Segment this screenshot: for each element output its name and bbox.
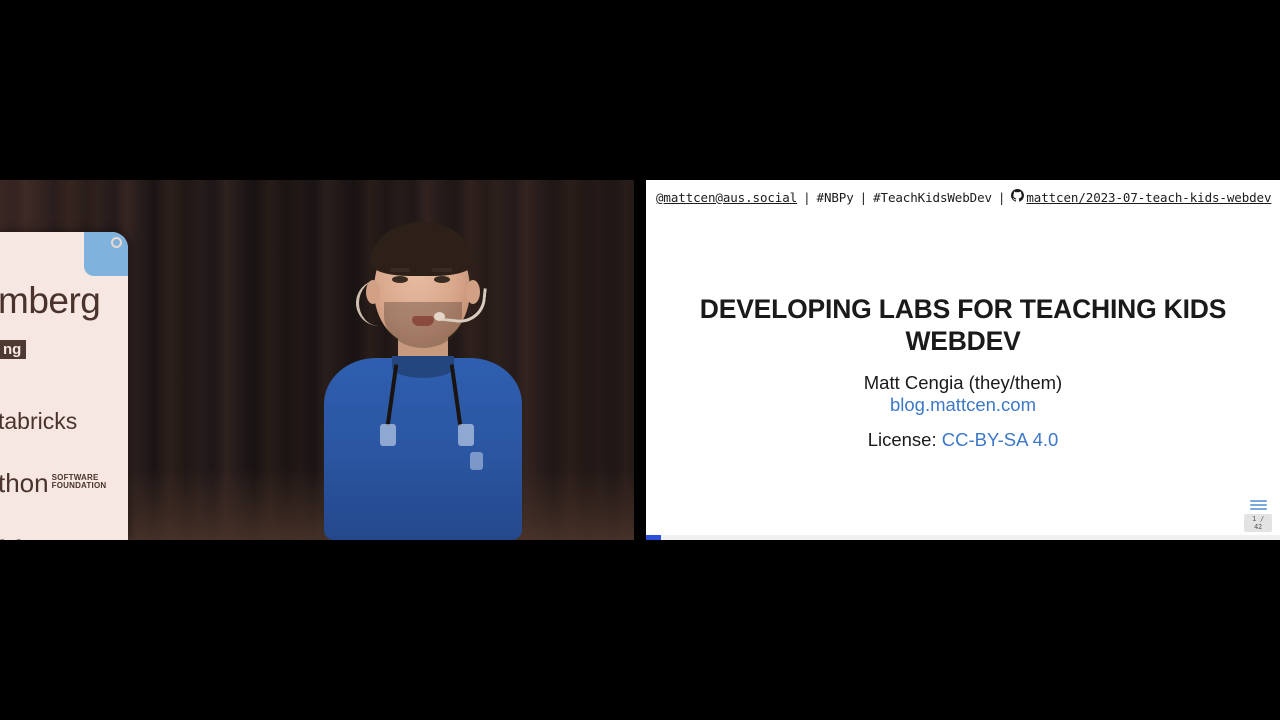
header-separator-3: | — [992, 190, 1011, 205]
headset-mic-boom — [438, 284, 487, 326]
menu-bar-2 — [1250, 504, 1267, 506]
github-repo-link[interactable]: mattcen/2023-07-teach-kids-webdev — [1026, 190, 1271, 205]
sponsor-logo-bloomberg: mberg — [0, 280, 100, 322]
speaker-figure — [318, 228, 528, 540]
slide-counter: 1 / 42 — [1244, 514, 1272, 532]
mastodon-handle-link[interactable]: @mattcen@aus.social — [656, 190, 797, 205]
sponsor-logo-psf: thonSOFTWAREFOUNDATION — [0, 468, 106, 499]
hamburger-menu-icon[interactable] — [1250, 500, 1267, 512]
slide-license-label: License: — [868, 429, 937, 450]
screen-root: mberg ng tabricks thonSOFTWAREFOUNDATION… — [0, 0, 1280, 720]
slide-license-link[interactable]: CC-BY-SA 4.0 — [942, 429, 1059, 450]
psf-sub-line-2: FOUNDATION — [52, 481, 107, 490]
github-icon — [1011, 189, 1024, 205]
hashtag-nbpy: #NBPy — [817, 190, 854, 205]
letterbox-top — [0, 0, 1280, 180]
speaker-mouth — [412, 316, 434, 326]
speaker-eye-right — [434, 276, 450, 283]
slide-title: DEVELOPING LABS FOR TEACHING KIDS WEBDEV — [646, 294, 1280, 358]
speaker-brow-right — [432, 268, 452, 272]
sponsor-logo-psf-main: thon — [0, 468, 49, 498]
speaker-hair — [370, 222, 474, 276]
speaker-shirt — [324, 358, 522, 540]
slide-content: DEVELOPING LABS FOR TEACHING KIDS WEBDEV… — [646, 214, 1280, 540]
header-separator-2: | — [854, 190, 873, 205]
speaker-shirt-print-left — [380, 424, 396, 446]
sponsor-logo-psf-sub: SOFTWAREFOUNDATION — [52, 474, 107, 490]
headset-mic-capsule — [434, 312, 445, 321]
slide-website-link[interactable]: blog.mattcen.com — [890, 394, 1036, 415]
speaker-eye-left — [392, 276, 408, 283]
slide-header-bar: @mattcen@aus.social | #NBPy | #TeachKids… — [646, 180, 1280, 214]
headset-band — [356, 280, 389, 326]
speaker-shirt-print-right — [458, 424, 474, 446]
menu-bar-1 — [1250, 500, 1267, 502]
presentation-slide-pane[interactable]: @mattcen@aus.social | #NBPy | #TeachKids… — [646, 180, 1280, 540]
speaker-collar — [392, 356, 454, 378]
slide-author: Matt Cengia (they/them) — [646, 372, 1280, 394]
menu-bar-3 — [1250, 508, 1267, 510]
hashtag-teachkidswebdev: #TeachKidsWebDev — [873, 190, 992, 205]
sponsor-logo-databricks: tabricks — [0, 408, 77, 435]
banner-corner-badge — [84, 232, 128, 276]
speaker-video-pane[interactable]: mberg ng tabricks thonSOFTWAREFOUNDATION… — [0, 180, 634, 540]
speaker-brow-left — [390, 268, 410, 272]
sponsor-banner: mberg ng tabricks thonSOFTWAREFOUNDATION… — [0, 232, 128, 540]
slide-license: License: CC-BY-SA 4.0 — [646, 429, 1280, 451]
letterbox-bottom — [0, 540, 1280, 720]
slide-controls[interactable]: 1 / 42 — [1244, 500, 1272, 534]
sponsor-logo-secondary: ng — [0, 340, 26, 359]
pane-gutter — [634, 180, 646, 540]
header-separator-1: | — [797, 190, 816, 205]
speaker-shirt-print-right-2 — [470, 452, 483, 470]
